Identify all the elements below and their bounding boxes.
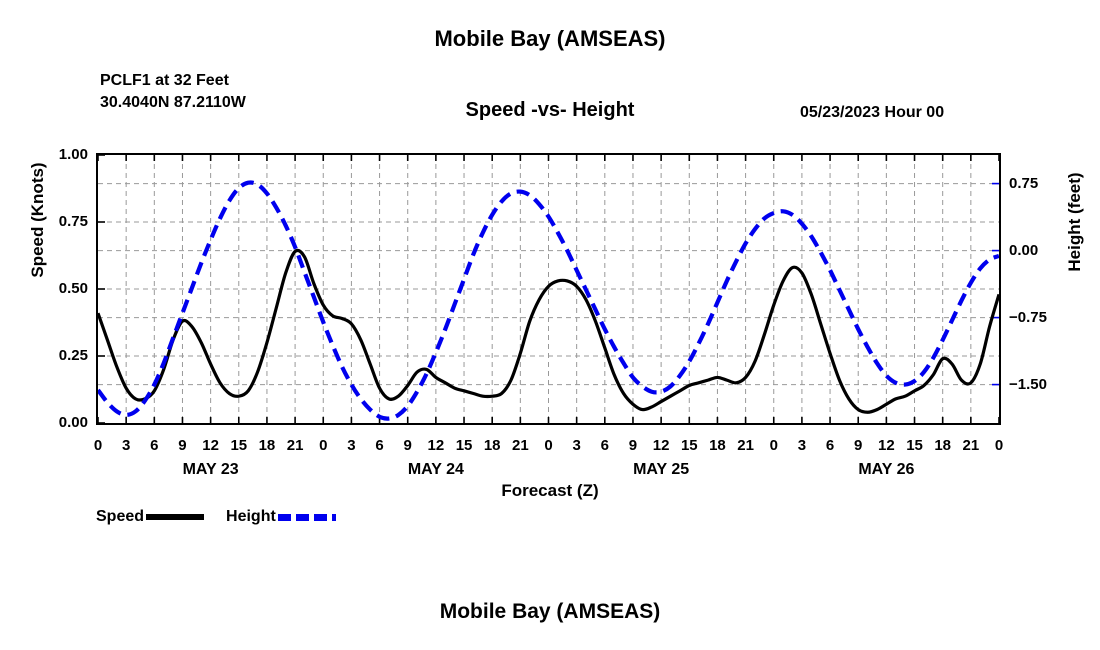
x-tick-hour-18: 6	[590, 437, 620, 454]
x-tick-hour-24: 0	[759, 437, 789, 454]
x-tick-hour-27: 9	[843, 437, 873, 454]
x-tick-hour-2: 6	[139, 437, 169, 454]
x-tick-hour-3: 9	[167, 437, 197, 454]
x-day-label-may-25: MAY 25	[591, 461, 731, 479]
model-run-timestamp: 05/23/2023 Hour 00	[800, 104, 944, 122]
y-tick-right-0.00: 0.00	[1009, 242, 1069, 259]
x-day-label-may-23: MAY 23	[141, 461, 281, 479]
x-tick-hour-23: 21	[731, 437, 761, 454]
station-name-depth: PCLF1 at 32 Feet	[100, 70, 246, 92]
x-tick-hour-7: 21	[280, 437, 310, 454]
x-tick-hour-12: 12	[421, 437, 451, 454]
y-tick-left-0.75: 0.75	[40, 213, 88, 230]
y-tick-right--0.75: −0.75	[1009, 309, 1069, 326]
x-tick-hour-16: 0	[534, 437, 564, 454]
legend-swatch-speed	[146, 514, 204, 520]
footer-title: Mobile Bay (AMSEAS)	[0, 600, 1100, 624]
x-tick-hour-20: 12	[646, 437, 676, 454]
x-tick-hour-22: 18	[702, 437, 732, 454]
y-axis-right-title: Height (feet)	[1065, 122, 1085, 322]
x-tick-hour-19: 9	[618, 437, 648, 454]
x-axis-title: Forecast (Z)	[0, 481, 1100, 501]
x-tick-hour-9: 3	[336, 437, 366, 454]
x-tick-hour-6: 18	[252, 437, 282, 454]
legend-item-height: Height	[226, 508, 336, 526]
x-tick-hour-17: 3	[562, 437, 592, 454]
x-tick-hour-0: 0	[83, 437, 113, 454]
x-tick-hour-30: 18	[928, 437, 958, 454]
x-tick-hour-14: 18	[477, 437, 507, 454]
x-tick-hour-13: 15	[449, 437, 479, 454]
y-tick-left-0.50: 0.50	[40, 280, 88, 297]
chart-canvas	[98, 155, 999, 423]
page-title: Mobile Bay (AMSEAS)	[0, 26, 1100, 52]
y-tick-right--1.50: −1.50	[1009, 376, 1069, 393]
legend-label-height: Height	[226, 508, 276, 526]
x-tick-hour-4: 12	[196, 437, 226, 454]
y-tick-left-1.00: 1.00	[40, 146, 88, 163]
chart-legend: Speed Height	[96, 508, 336, 526]
chart-plot-area	[96, 153, 1001, 425]
x-tick-hour-29: 15	[900, 437, 930, 454]
x-tick-hour-5: 15	[224, 437, 254, 454]
legend-label-speed: Speed	[96, 508, 144, 526]
y-tick-left-0.25: 0.25	[40, 347, 88, 364]
y-tick-right-0.75: 0.75	[1009, 175, 1069, 192]
x-tick-hour-26: 6	[815, 437, 845, 454]
x-tick-hour-25: 3	[787, 437, 817, 454]
x-tick-hour-31: 21	[956, 437, 986, 454]
x-tick-hour-11: 9	[393, 437, 423, 454]
x-tick-hour-32: 0	[984, 437, 1014, 454]
legend-item-speed: Speed	[96, 508, 204, 526]
x-tick-hour-15: 21	[505, 437, 535, 454]
x-tick-hour-8: 0	[308, 437, 338, 454]
y-tick-left-0.00: 0.00	[40, 414, 88, 431]
x-tick-hour-21: 15	[674, 437, 704, 454]
legend-swatch-height	[278, 514, 336, 521]
x-tick-hour-28: 12	[871, 437, 901, 454]
x-tick-hour-10: 6	[365, 437, 395, 454]
x-day-label-may-26: MAY 26	[816, 461, 956, 479]
x-day-label-may-24: MAY 24	[366, 461, 506, 479]
x-tick-hour-1: 3	[111, 437, 141, 454]
